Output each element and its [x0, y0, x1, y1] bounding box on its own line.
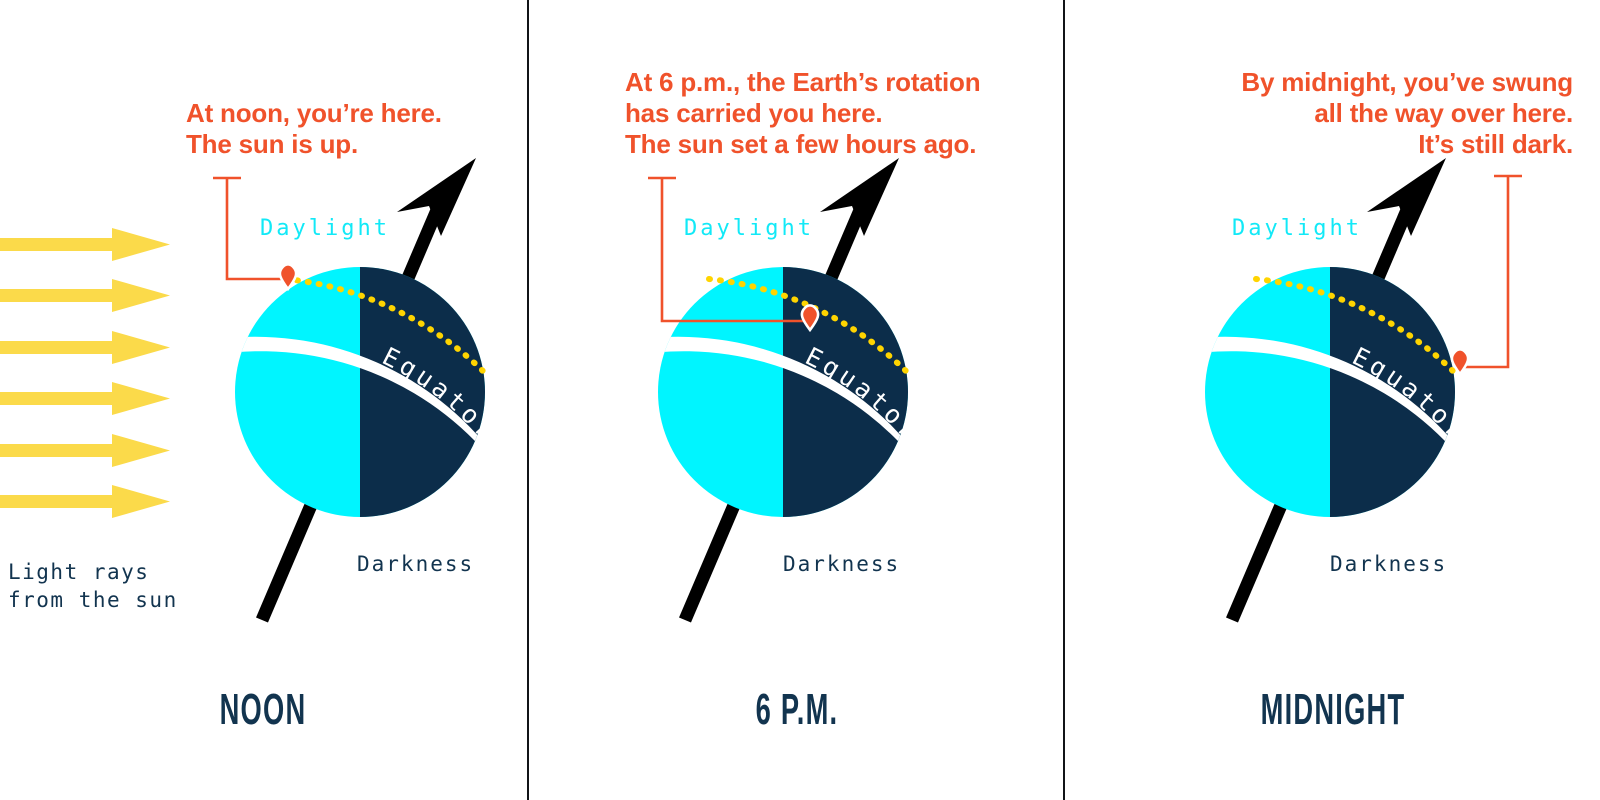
sun-ray-icon: [0, 382, 170, 415]
panel-noon-graphics: Equator: [0, 0, 527, 800]
panel-midnight-graphics: Equator: [1065, 0, 1600, 800]
panel-noon: At noon, you’re here. The sun is up. Lig…: [0, 0, 527, 800]
sun-ray-icon: [0, 485, 170, 518]
panel-six-pm: At 6 p.m., the Earth’s rotation has carr…: [529, 0, 1063, 800]
globe-midnight: Equator: [1198, 255, 1472, 535]
globe-noon: Equator: [228, 255, 502, 535]
panel-six-pm-graphics: Equator: [529, 0, 1063, 800]
panel-midnight-daylight-bracket: [1464, 176, 1522, 367]
sun-rays-group: [0, 228, 170, 518]
sun-ray-icon: [0, 228, 170, 261]
sun-ray-icon: [0, 331, 170, 364]
panel-midnight: By midnight, you’ve swung all the way ov…: [1065, 0, 1600, 800]
you-are-here-marker-icon: [280, 264, 296, 289]
sun-ray-icon: [0, 279, 170, 312]
diagram-canvas: At noon, you’re here. The sun is up. Lig…: [0, 0, 1600, 800]
panel-noon-daylight-bracket: [213, 178, 283, 279]
sun-ray-icon: [0, 434, 170, 467]
globe-six-pm: Equator: [651, 255, 925, 535]
